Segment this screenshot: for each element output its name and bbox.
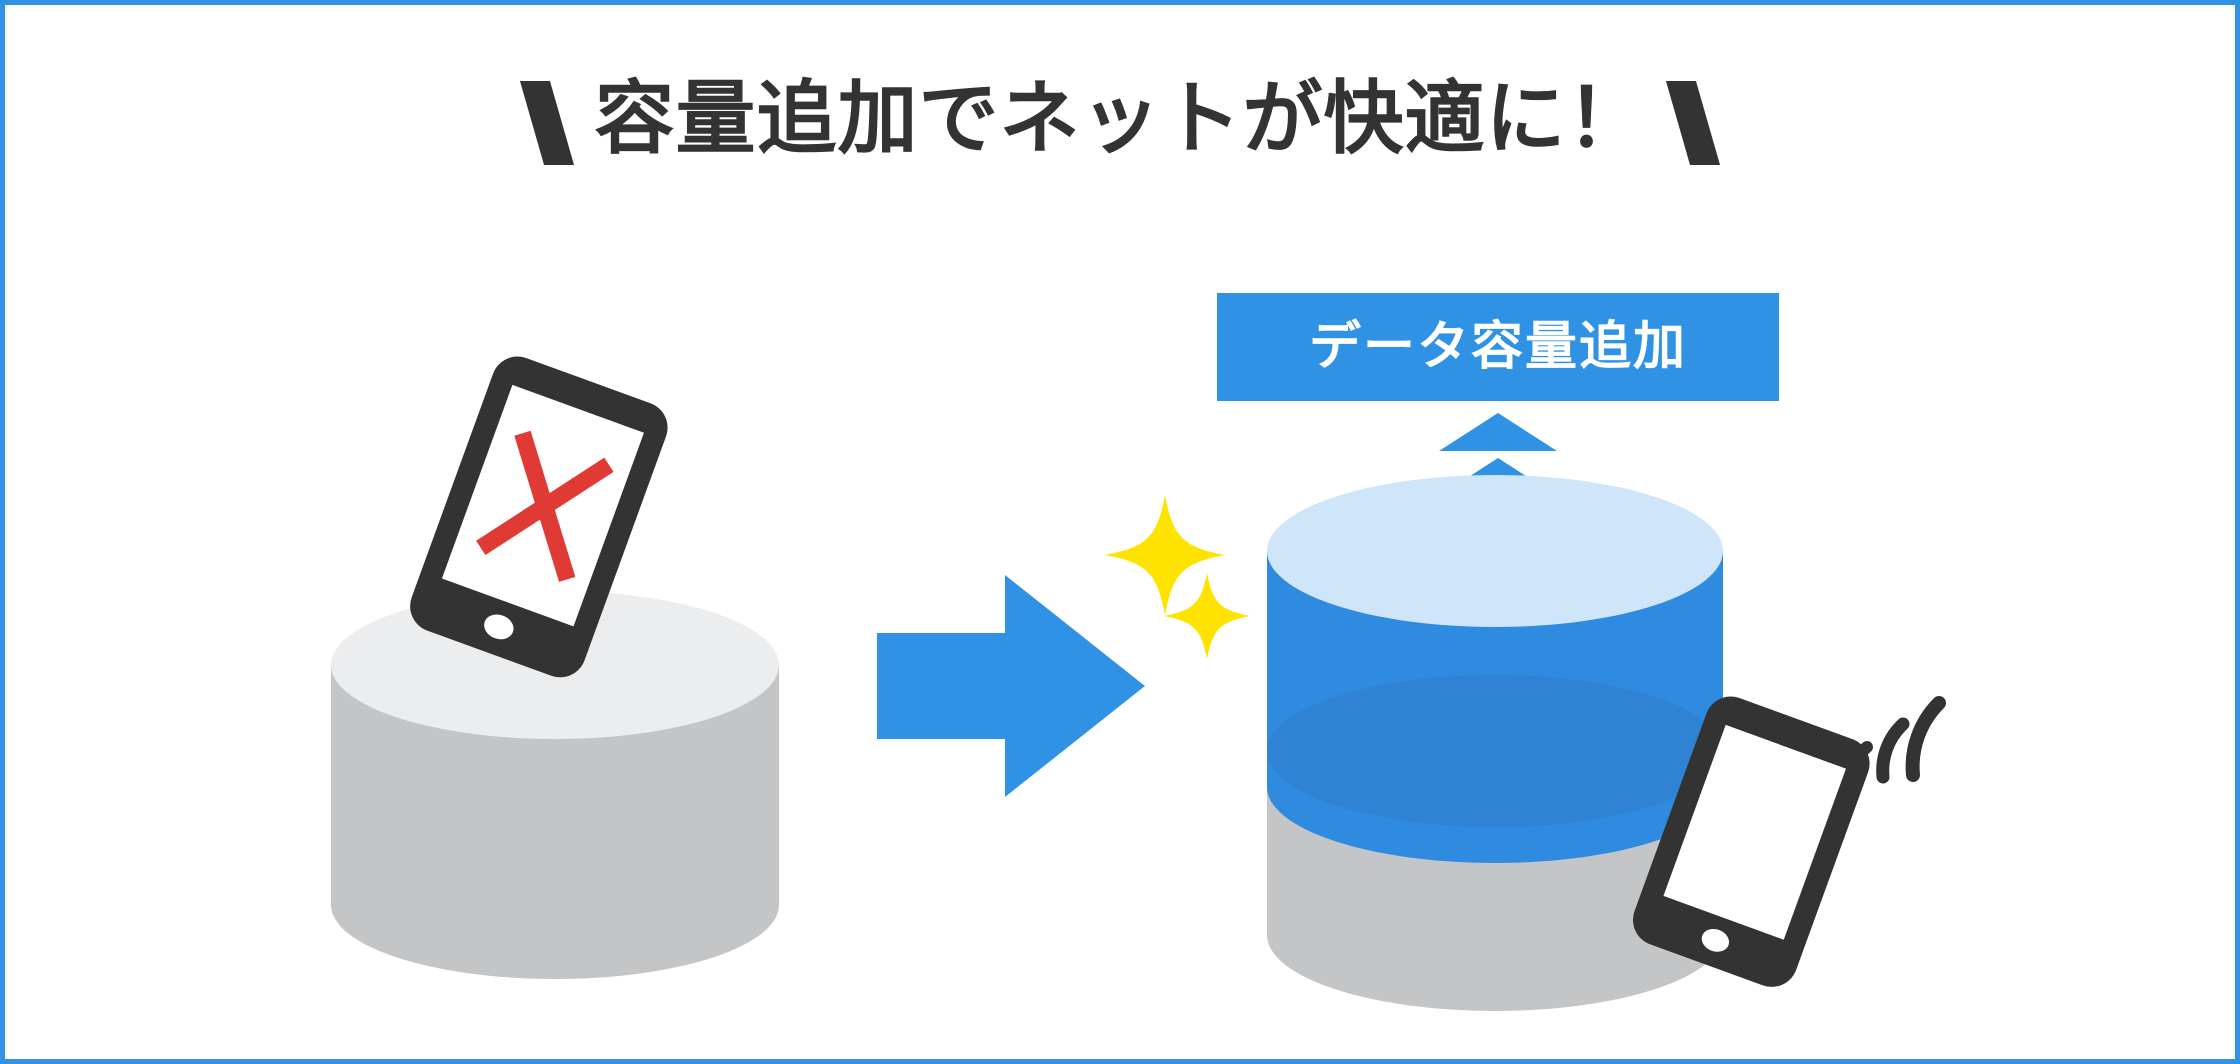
sparkle-small-icon bbox=[1164, 573, 1250, 659]
illustration-layer bbox=[5, 5, 2235, 1059]
promo-banner: 容量追加でネットが快適に！ データ容量追加 bbox=[0, 0, 2240, 1064]
banner-stage: 容量追加でネットが快適に！ データ容量追加 bbox=[5, 5, 2235, 1059]
chevron-up-upper-icon bbox=[1439, 413, 1557, 451]
arrow-right-icon bbox=[877, 575, 1145, 797]
